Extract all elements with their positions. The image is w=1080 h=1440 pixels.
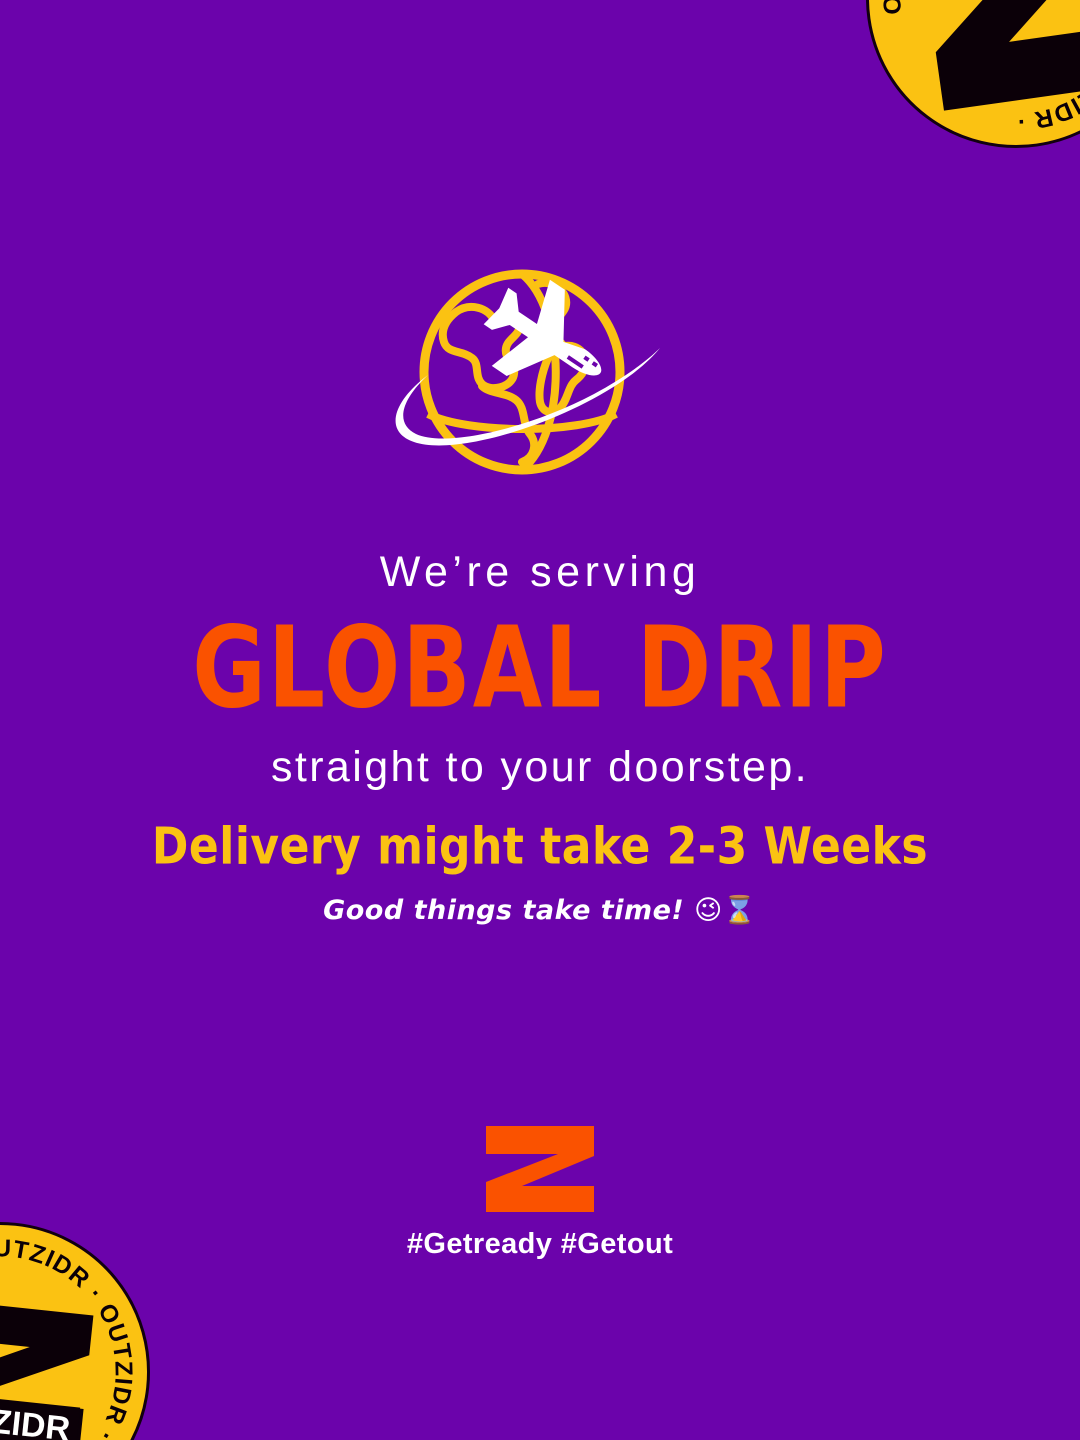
delivery-note: Delivery might take 2-3 Weeks Good thing… [0, 820, 1080, 926]
globe-illustration [0, 262, 1080, 487]
winking-face-emoji-icon: 😉 [694, 895, 723, 926]
delivery-subnote: Good things take time! 😉⌛ [0, 894, 1080, 926]
seal-center-mark-top-right [897, 0, 1080, 119]
brand-seal-top-right: OUTZIDR · OUTZIDR · OUTZIDR · OUTZIDR · [847, 0, 1080, 167]
brand-seal-bottom-left: OUTZIDR · OUTZIDR · OUTZIDR · OUTZIDR · … [0, 1207, 165, 1440]
headline-subline: straight to your doorstep. [0, 742, 1080, 794]
outzidr-z-logo-icon [478, 1124, 602, 1214]
promo-poster: OUTZIDR · OUTZIDR · OUTZIDR · OUTZIDR · [0, 0, 1080, 1440]
headline-hero: GLOBAL DRIP [0, 612, 1080, 725]
seal-center-mark-bottom-left: OUTZIDR [0, 1293, 100, 1440]
z-logo-shape [897, 0, 1080, 119]
delivery-headline: Delivery might take 2-3 Weeks [0, 820, 1080, 876]
brand-tagline: #Getready #Getout [0, 1228, 1080, 1261]
headline-kicker: We’re serving [0, 548, 1080, 596]
globe-with-airplane-icon [370, 262, 710, 487]
delivery-subnote-text: Good things take time! [323, 895, 694, 926]
outzidr-z-icon [897, 0, 1080, 119]
hourglass-emoji-icon: ⌛ [723, 895, 757, 926]
footer-brand-block: #Getready #Getout [0, 1124, 1080, 1261]
headline-block: We’re serving GLOBAL DRIP straight to yo… [0, 548, 1080, 794]
